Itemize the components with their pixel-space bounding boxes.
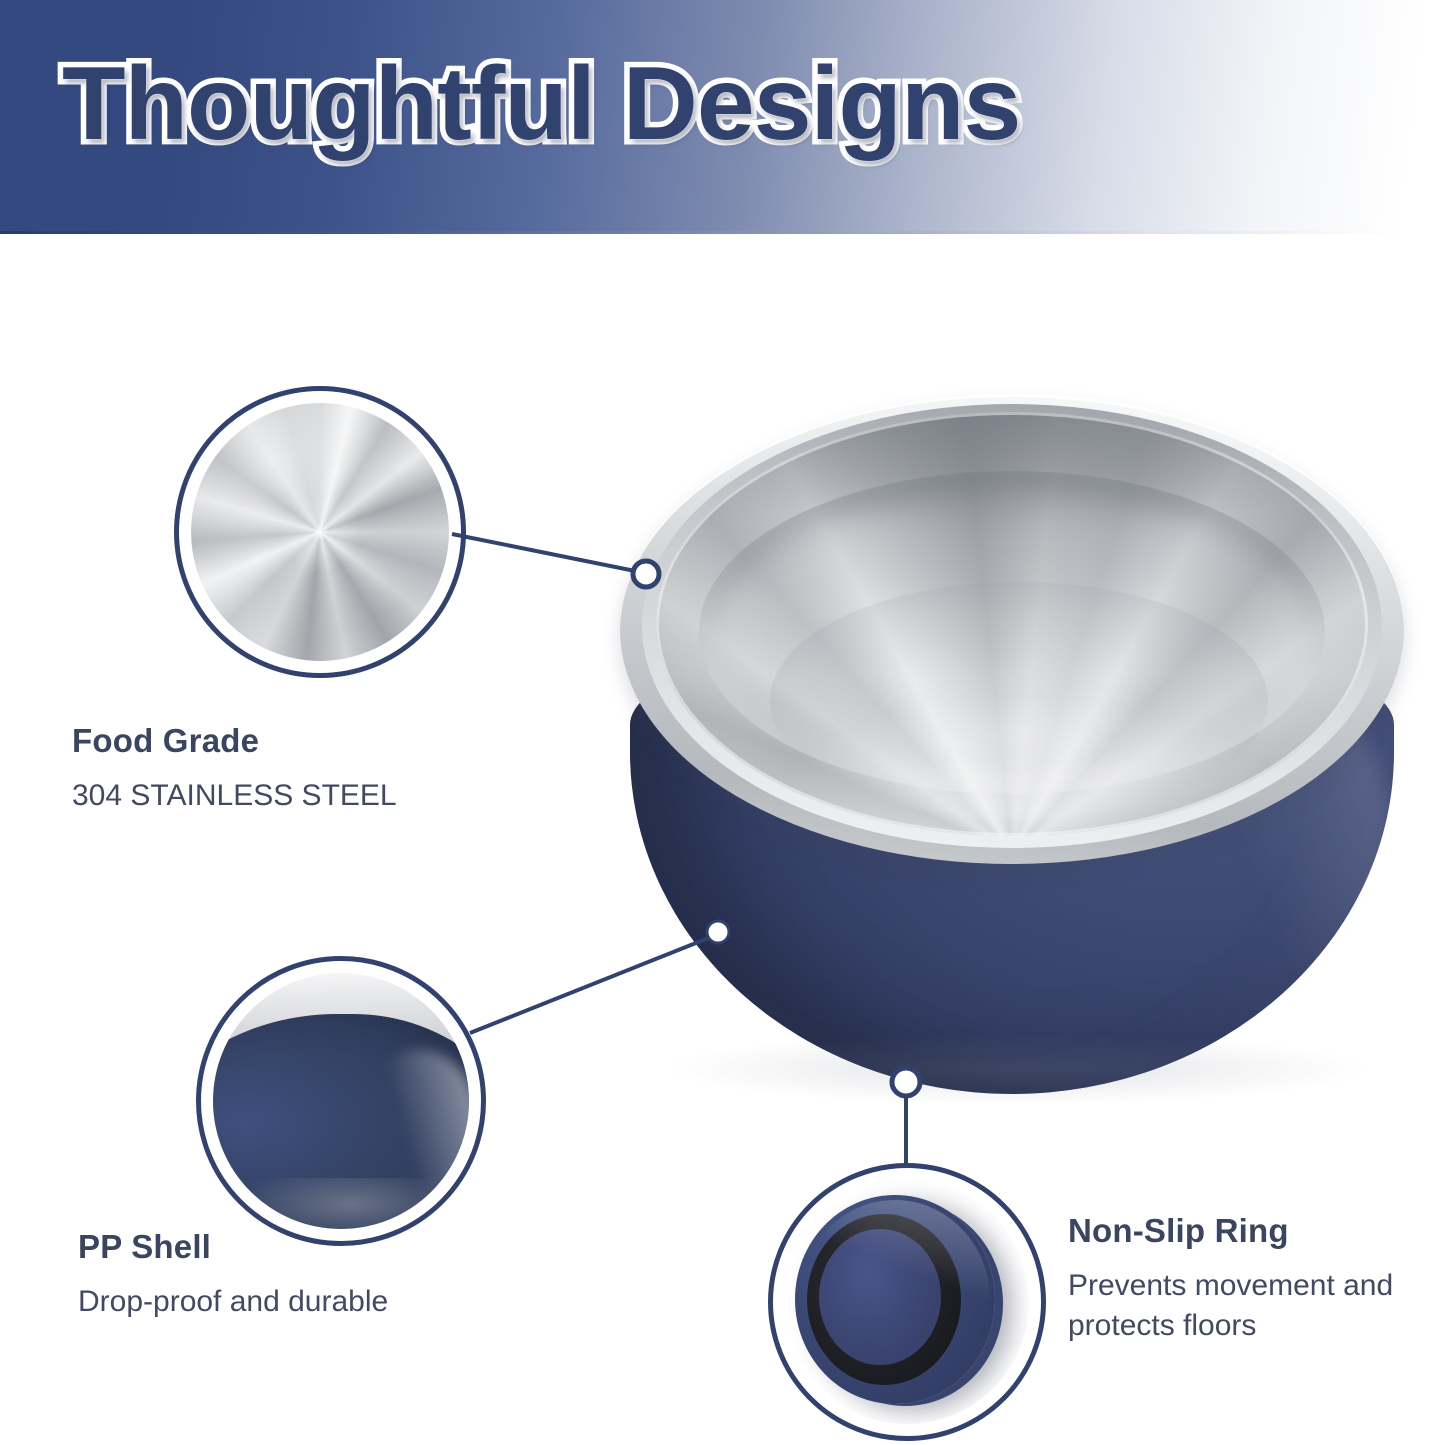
- feature-food-grade: Food Grade 304 STAINLESS STEEL: [72, 722, 397, 815]
- feature-non-slip-ring: Non-Slip Ring Prevents movement and prot…: [1068, 1212, 1440, 1346]
- non-slip-base-ring-icon: [785, 1180, 1029, 1424]
- callout-inner-non-slip-ring: [785, 1180, 1029, 1424]
- navy-shell-closeup-icon: [213, 973, 469, 1229]
- feature-title-food-grade: Food Grade: [72, 722, 397, 760]
- brushed-steel-disc-icon: [191, 403, 449, 661]
- callout-circle-pp-shell: [196, 956, 486, 1246]
- infographic-canvas: Thoughtful Designs: [0, 0, 1445, 1445]
- callout-inner-food-grade: [191, 403, 449, 661]
- shell-floor-shadow: [233, 1178, 469, 1229]
- bowl-ground-shadow: [672, 1034, 1362, 1104]
- bowl-rim-highlight: [620, 394, 1404, 864]
- feature-desc-non-slip-ring: Prevents movement and protects floors: [1068, 1266, 1440, 1346]
- feature-pp-shell: PP Shell Drop-proof and durable: [78, 1228, 388, 1321]
- feature-title-non-slip-ring: Non-Slip Ring: [1068, 1212, 1440, 1250]
- feature-desc-pp-shell: Drop-proof and durable: [78, 1282, 388, 1321]
- shell-gloss: [361, 1050, 469, 1198]
- callout-circle-food-grade: [174, 386, 466, 678]
- callout-circle-non-slip-ring: [768, 1163, 1046, 1441]
- feature-title-pp-shell: PP Shell: [78, 1228, 388, 1266]
- callout-inner-pp-shell: [213, 973, 469, 1229]
- feature-desc-food-grade: 304 STAINLESS STEEL: [72, 776, 397, 815]
- page-title: Thoughtful Designs: [62, 52, 1020, 156]
- product-bowl-image: [612, 386, 1412, 1092]
- header-underline: [0, 231, 1445, 234]
- ring-rim-light: [800, 1200, 990, 1400]
